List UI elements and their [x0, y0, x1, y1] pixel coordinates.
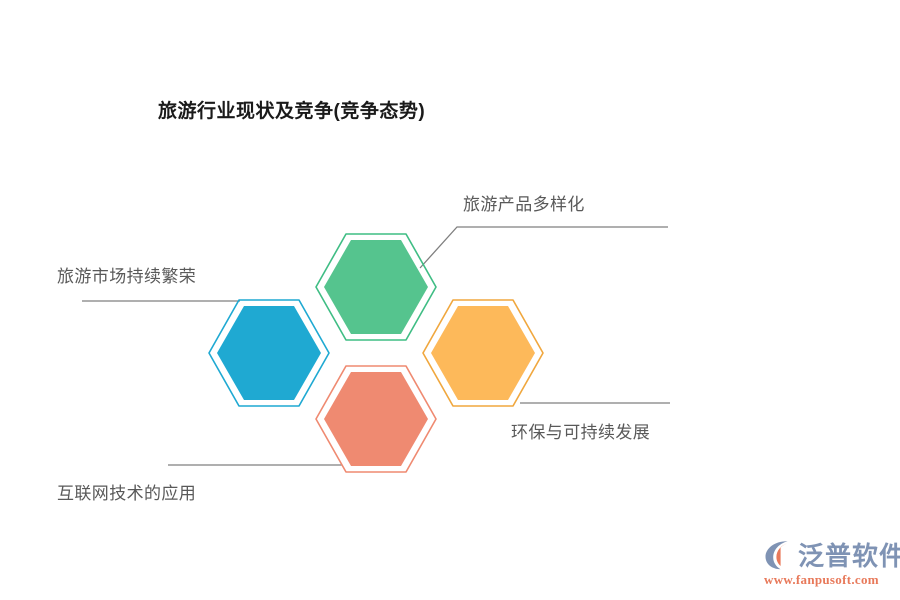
hexagon-internet[interactable]: [316, 366, 436, 472]
slide-canvas: 旅游行业现状及竞争(竞争态势) 旅: [0, 0, 900, 600]
hexagon-diagram: [0, 0, 900, 600]
hexagon-eco-fill: [431, 306, 535, 400]
hexagon-market[interactable]: [209, 300, 329, 406]
hexagon-market-fill: [217, 306, 321, 400]
logo-wordmark: 泛普软件: [798, 536, 900, 573]
watermark-logo: 泛普软件 www.fanpusoft.com: [762, 536, 890, 594]
hexagon-label-product: 旅游产品多样化: [463, 190, 585, 215]
fanpu-logo-icon: [762, 538, 796, 572]
connector-line-product: [420, 227, 668, 268]
hexagon-label-eco: 环保与可持续发展: [511, 418, 650, 443]
hexagon-product-fill: [324, 240, 428, 334]
hexagon-product[interactable]: [316, 234, 436, 340]
hexagon-label-market: 旅游市场持续繁荣: [57, 262, 196, 287]
hexagon-internet-fill: [324, 372, 428, 466]
logo-url: www.fanpusoft.com: [764, 572, 879, 588]
hexagon-label-internet: 互联网技术的应用: [57, 479, 196, 504]
hexagon-eco[interactable]: [423, 300, 543, 406]
